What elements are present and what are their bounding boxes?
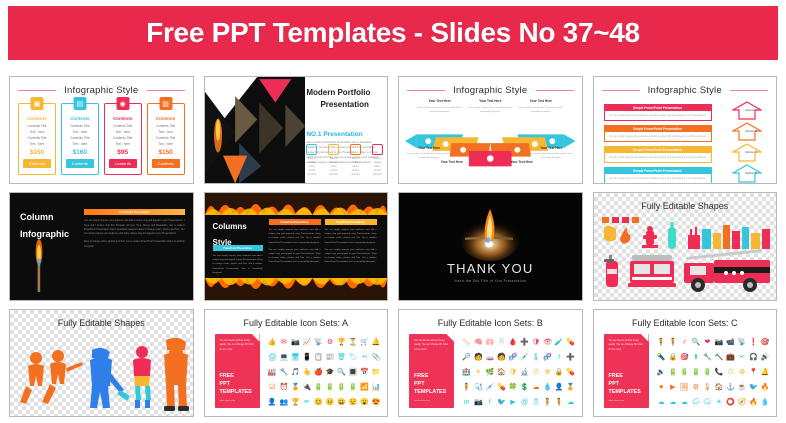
card-brand: FREE PPT TEMPLATES [220,372,252,396]
arrow-body: Get a modern PowerPoint Presentation tha… [468,107,513,115]
card-price: $150 [158,149,172,156]
eye-icon[interactable]: 👁 [542,339,554,346]
pricing-card[interactable]: ◉ Contents Contents Title Text : here Co… [104,103,142,175]
slide-6-title-line1: Columns [213,219,247,234]
portfolio-collage [205,77,305,183]
man-icon[interactable]: 🧍 [667,339,679,346]
instagram-icon[interactable]: 📷 [473,399,485,406]
syringe-icon[interactable]: 💉 [519,354,531,361]
burning-match-image [455,203,525,261]
arrow-label: Your Text Here [431,160,473,164]
bar-body: You can simply impress your audience and… [604,153,712,163]
sun-icon[interactable]: ☀ [473,369,485,376]
brand-line-3: TEMPLATES [220,388,252,396]
gender-icon[interactable]: ♂ [679,339,691,346]
thermometer-icon[interactable]: 🌡 [530,354,542,361]
cloud-icon[interactable]: ☁ [667,399,679,406]
exclamation-icon[interactable]: ❗ [748,339,760,346]
scissors-icon[interactable]: ✂ [359,354,371,361]
slide-11-title: Fully Editable Icon Sets: B [399,318,582,328]
circle-icon[interactable]: ⭕ [725,399,737,406]
plug-icon[interactable]: 🔌 [301,384,313,391]
needle-icon[interactable]: 💉 [484,384,496,391]
test-tube-icon[interactable]: 🧪 [553,339,565,346]
helix-icon[interactable]: 🧬 [542,354,554,361]
coffee-icon[interactable]: ☕ [736,384,748,391]
scissors-icon[interactable]: ✂ [736,354,748,361]
tooth-icon[interactable]: 🦷 [496,339,508,346]
sad-face-icon[interactable]: 😟 [347,399,359,406]
icon-row: 🏭 🔧 🎵 👆 🍎 🎓 🔍 🔳 📅 📁 [267,366,383,380]
card-header: Contents [113,116,133,121]
capsule-icon[interactable]: 💊 [565,369,577,376]
arrow-ribbon-diagram: Your Text Here Get a modern PowerPoint P… [403,101,578,179]
factory-icon[interactable]: 🏭 [267,369,279,376]
column-body: You can simply impress your audience and… [269,248,321,264]
pointer-icon[interactable]: 👆 [301,369,313,376]
free-ppt-templates-card: You can Resize without losing quality. Y… [215,334,260,408]
satellite-icon[interactable]: 📡 [736,339,748,346]
bar-label: Simple PowerPoint Presentation [604,167,712,174]
card-brand: FREE PPT TEMPLATES [414,372,446,396]
firefighter-hose-icon [90,348,130,408]
happy-face-icon[interactable]: 😀 [336,399,348,406]
feature-icon-item[interactable]: Easy to change colors, photos and Text [350,144,361,178]
city-skyline-icon [688,225,770,249]
droplet-icon[interactable]: 💧 [542,384,554,391]
pricing-card[interactable]: ▤ Contents Contents Title Text : here Co… [61,103,99,175]
petri-dish-icon[interactable]: 🧫 [484,354,496,361]
hourglass-icon[interactable]: ⏳ [347,339,359,346]
headphones-icon[interactable]: 🎧 [748,354,760,361]
lock-icon [350,144,361,155]
ppt-template-preview-page: Free PPT Templates - Slides No 37~48 Inf… [0,0,786,423]
firefighter-figure-graphics [14,328,190,412]
calendar-icon[interactable]: 📅 [359,369,371,376]
chart-icon[interactable]: 📈 [301,339,313,346]
bar-item-a[interactable]: Simple PowerPoint Presentation You can s… [604,104,712,121]
arrow-label: Your Text Here [529,146,574,150]
card-icon: ◉ [116,97,129,110]
slide-thumbnail-11-icon-sets-b[interactable]: Fully Editable Icon Sets: B You can Resi… [398,309,583,417]
fire-truck-side-icon [684,249,770,292]
feature-icon-item[interactable]: Easy to change colors, photos and Text [306,144,317,178]
play-icon[interactable]: ▶ [667,384,679,391]
recycle-icon[interactable]: ♻ [736,369,748,376]
tag-icon[interactable]: 🏷 [347,354,359,361]
laptop-icon[interactable]: 💻 [278,354,290,361]
lungs-icon[interactable]: 🫁 [484,339,496,346]
wrench-icon[interactable]: 🔧 [278,369,290,376]
device-icon [372,144,383,155]
bone-icon[interactable]: 🦴 [461,339,473,346]
home-icon[interactable]: 🏠 [496,369,508,376]
battery-icon[interactable]: 🔋 [313,384,325,391]
slide-thumbnail-6-columns-style[interactable]: Columns Style PowerPoint Presentation Yo… [204,192,389,300]
blood-icon[interactable]: 🩸 [507,339,519,346]
search-icon[interactable]: 🔍 [336,369,348,376]
slide-5-tag: PowerPoint Presentation [84,209,185,215]
stethoscope-icon[interactable]: 🩺 [473,384,485,391]
page-header-banner: Free PPT Templates - Slides No 37~48 [8,6,778,60]
upload-icon[interactable]: ⬆ [690,354,702,361]
video-camera-icon[interactable]: 📹 [725,339,737,346]
brain-icon[interactable]: 🧠 [473,339,485,346]
rain-cloud-icon[interactable]: 🌧 [702,399,714,406]
music-icon[interactable]: 🎵 [290,369,302,376]
slide-5-title-line1: Column [20,209,69,226]
icon-row: 🧍 🩺 💉 💊 🍀 💲 ☁ 💧 👤 🏅 [461,381,577,395]
brand-line-1: FREE [414,372,446,380]
portfolio-icon-row: Easy to change colors, photos and Text E… [306,144,383,178]
stopwatch-icon[interactable]: ⏱ [530,369,542,376]
pricing-card[interactable]: ▥ Contents Contents Title Text : here Co… [147,103,185,175]
sun-icon[interactable]: ☀ [713,399,725,406]
slide-12-title: Fully Editable Icon Sets: C [594,318,777,328]
icon-row: ⏺ ▶ 🖼 ⚙ 🌡 🏠 ⚓ ☕ 🐦 🔥 [656,381,772,395]
column-tag: PowerPoint Presentation [325,219,377,225]
icon-set-grid: 👍 ✉ 📷 📈 📡 ⚙ 🏆 ⏳ 🛒 🔔 🖨 💻 � [267,336,383,410]
caduceus-icon[interactable]: ⚕ [553,354,565,361]
shield-icon[interactable]: 🛡 [507,369,519,376]
arrow-body: Get a modern PowerPoint Presentation tha… [417,107,462,115]
twitter-icon[interactable]: 🐦 [496,399,508,406]
shield-icon[interactable]: 🛡 [530,339,542,346]
bar-label: Simple PowerPoint Presentation [604,104,712,111]
biohazard-icon[interactable]: ☢ [542,369,554,376]
target-icon[interactable]: 🎯 [759,339,771,346]
slide-thumbnail-5-column-infographic[interactable]: Column Infographic PowerPoint Presentati… [9,192,194,300]
brand-line-1: FREE [609,372,641,380]
card-top-text: You can Resize without losing quality. Y… [414,339,449,353]
card-line: Text : here [29,141,44,147]
slide-6-column-2: PowerPoint Presentation You can simply i… [269,219,321,264]
slide-thumbnail-8-editable-shapes-equipment[interactable]: Fully Editable Shapes [593,192,778,300]
monitor-icon[interactable]: 🖥 [290,354,302,361]
slide-thumbnail-7-thank-you[interactable]: THANK YOU Insert the Sub Title of Your P… [398,192,583,300]
youtube-icon[interactable]: ▶ [507,399,519,406]
trash-icon[interactable]: 🗑 [336,354,348,361]
brand-line-1: FREE [220,372,252,380]
icon-row: 👍 ✉ 📷 📈 📡 ⚙ 🏆 ⏳ 🛒 🔔 [267,336,383,350]
tablet-icon[interactable]: 💊 [496,384,508,391]
medal-icon[interactable]: 🏅 [290,384,302,391]
clock-icon[interactable]: ⏰ [278,384,290,391]
dna-icon[interactable]: 🧬 [507,354,519,361]
slide-8-title: Fully Editable Shapes [594,201,777,211]
cloud-icon[interactable]: ☁ [565,399,577,406]
feature-caption: Easy to change colors, photos and Text [372,157,383,178]
pricing-card[interactable]: ▣ Contents Contents Title Text : here Co… [18,103,56,175]
slide-9-title: Fully Editable Shapes [10,318,193,328]
doctor-icon[interactable]: 🧑 [496,354,508,361]
card-price: $95 [117,149,128,156]
cloud-icon[interactable]: ☁ [656,399,668,406]
woman-icon[interactable]: 🧍 [656,339,668,346]
slide-thumbnail-2-modern-portfolio[interactable]: Modern Portfolio Presentation NO.1 Prese… [204,76,389,184]
slide-thumbnail-12-icon-sets-c[interactable]: Fully Editable Icon Sets: C You can Resi… [593,309,778,417]
bar-item-d[interactable]: Simple PowerPoint Presentation You can s… [604,167,712,183]
hammer-icon[interactable]: 🔨 [713,354,725,361]
checkbox-icon[interactable]: ☑ [267,384,279,391]
cart-icon[interactable]: 🛒 [359,339,371,346]
pencil-icon[interactable]: ✏ [301,399,313,406]
feature-caption: Easy to change colors, photos and Text [306,157,317,178]
brand-line-2: PPT [220,380,252,388]
bird-icon[interactable]: 🐦 [748,384,760,391]
bar-item-c[interactable]: Simple PowerPoint Presentation You can s… [604,146,712,163]
battery-icon[interactable]: 🔋 [347,384,359,391]
card-price: $150 [30,149,44,156]
card-header: Contents [27,116,47,121]
grid-icon[interactable]: 🔳 [347,369,359,376]
slide-3-title: Infographic Style [399,85,582,96]
icon-row: ☁ ☁ ☁ 🌧 🌧 ☀ ⭕ 🧭 🔥 💧 [656,396,772,410]
firefighter-standing-icon [164,338,189,411]
person-icon[interactable]: 👤 [267,399,279,406]
icon-row: 🏥 ☀ 🌿 🏠 🛡 🔬 ⏱ ☢ 🔒 💊 [461,366,577,380]
search-icon[interactable]: 🔍 [690,339,702,346]
brand-line-2: PPT [414,380,446,388]
column-tag: PowerPoint Presentation [213,245,263,251]
card-price: $160 [73,149,87,156]
column-body: You can simply impress your audience and… [325,228,377,244]
rain-cloud-icon[interactable]: 🌧 [690,399,702,406]
love-face-icon[interactable]: 😍 [370,399,382,406]
home-icon[interactable]: 🏠 [713,384,725,391]
mail-icon[interactable]: ✉ [278,339,290,346]
surprised-face-icon[interactable]: 😮 [359,399,371,406]
arrow-label: Your Text Here [518,99,563,103]
bar-label: Simple PowerPoint Presentation [604,125,712,132]
smiley-icon[interactable]: 😊 [313,399,325,406]
record-icon[interactable]: ⏺ [656,384,668,391]
card-header: Contents [156,116,176,121]
card-button[interactable]: Contents [109,159,137,168]
bar-item-b[interactable]: Simple PowerPoint Presentation You can s… [604,125,712,142]
lock-icon[interactable]: 🔒 [553,369,565,376]
slide-thumbnail-10-icon-sets-a[interactable]: Fully Editable Icon Sets: A You can Resi… [204,309,389,417]
person-icon[interactable]: 🧍 [461,384,473,391]
flashlight-icon[interactable]: 🔦 [656,354,668,361]
camera-icon[interactable]: 📷 [290,339,302,346]
fire-border-top [205,193,388,215]
fire-hydrant-icon [642,226,658,248]
stopwatch-icon[interactable]: ⏱ [725,369,737,376]
icon-row: 🔈 🔋 🔋 🔋 🔋 📞 ⏱ ♻ 📍 🔔 [656,366,772,380]
firefighting-equipment-graphics [598,215,774,293]
card-line: Text : here [72,141,87,147]
card-url: www.sitesn.com [414,400,430,402]
slide-thumbnail-4-infographic-arrow-bars[interactable]: Infographic Style Option A Simple PowerP… [593,76,778,184]
email-icon[interactable]: @ [519,399,531,406]
bar-body: You can simply impress your audience and… [604,111,712,121]
icon-row: in 📷 f 🐦 ▶ @ 🎗 🧍 🧍 ☁ [461,396,577,410]
card-button[interactable]: Contents [23,159,51,168]
column-body: You can simply impress your audience and… [269,228,321,244]
battery-icon[interactable]: 🔋 [336,384,348,391]
column-body: You can simply impress your audience and… [213,254,263,274]
image-icon[interactable]: 🖼 [679,384,691,391]
card-top-text: You can Resize without losing quality. Y… [609,339,644,353]
clip-icon[interactable]: 📎 [370,354,382,361]
brand-line-3: TEMPLATES [414,388,446,396]
award-icon[interactable]: 🏅 [565,384,577,391]
camera-icon[interactable]: 📷 [713,339,725,346]
people-icon[interactable]: 👥 [278,399,290,406]
user-icon[interactable]: 👤 [553,384,565,391]
icon-row: ☑ ⏰ 🏅 🔌 🔋 🔋 🔋 🔋 📶 📊 [267,381,383,395]
lock-icon[interactable]: 🔒 [667,354,679,361]
fire-extinguisher-icon [604,255,618,287]
battery-icon[interactable]: 🔋 [702,369,714,376]
gas-cylinder-icon [668,222,676,249]
speaker-icon[interactable]: 🔊 [759,354,771,361]
signal-icon[interactable]: 📶 [359,384,371,391]
gear-icon[interactable]: ⚙ [690,384,702,391]
option-label-b: Option B [745,129,757,133]
icon-row: 🦴 🧠 🫁 🦷 🩸 ➕ 🛡 👁 🧪 💊 [461,336,577,350]
bell-icon[interactable]: 🔔 [370,339,382,346]
slide-4-title: Infographic Style [594,85,777,96]
dollar-icon[interactable]: 💲 [519,384,531,391]
pill-icon[interactable]: 💊 [565,339,577,346]
column-tag: PowerPoint Presentation [269,219,321,225]
patient-icon[interactable]: 🧑 [473,354,485,361]
fire-border-bottom [205,278,388,300]
location-pin-icon[interactable]: 📍 [748,369,760,376]
slide-thumbnail-grid: Infographic Style ▣ Contents Contents Ti… [0,70,786,423]
free-ppt-templates-card: You can Resize without losing quality. Y… [409,334,454,408]
cloud-icon[interactable]: ☁ [530,384,542,391]
card-brand: FREE PPT TEMPLATES [609,372,641,396]
clipboard-icon[interactable]: 📋 [313,354,325,361]
slide-7-title: THANK YOU [399,261,582,276]
column-body: You can simply impress your audience and… [325,248,377,264]
card-icon: ▥ [159,97,172,110]
graduation-icon[interactable]: 🎓 [324,369,336,376]
card-icon: ▤ [73,97,86,110]
thumbs-up-icon[interactable]: 👍 [267,339,279,346]
feature-caption: Easy to change colors, photos and Text [328,157,339,178]
anchor-icon[interactable]: ⚓ [725,384,737,391]
slide-6-column-1: PowerPoint Presentation You can simply i… [213,245,263,274]
phone-icon[interactable]: 📞 [713,369,725,376]
target-icon[interactable]: 🎯 [679,354,691,361]
gear-icon[interactable]: ⚙ [324,339,336,346]
heart-icon[interactable]: ❤ [702,339,714,346]
icon-row: 🔎 🧑 🧫 🧑 🧬 💉 🌡 🧬 ⚕ ➕ [461,351,577,365]
slide-1-title: Infographic Style [10,85,193,96]
icon-row: 👤 👥 🏆 ✏ 😊 😐 😀 😟 😮 😍 [267,396,383,410]
volume-icon[interactable]: 🔈 [656,369,668,376]
ribbon-icon[interactable]: 🎗 [530,399,542,406]
arrow-body: Get a modern PowerPoint Presentation tha… [518,107,563,115]
chart-icon [306,144,317,155]
arrow-label: Your Text Here [406,146,451,150]
card-icon: ▣ [30,97,43,110]
leaf-icon[interactable]: 🌿 [484,369,496,376]
clover-icon[interactable]: 🍀 [507,384,519,391]
wrench-icon[interactable]: 🔧 [702,354,714,361]
slide-5-body2: Easy to change colors, photos and Text. … [84,240,185,248]
microscope-icon[interactable]: 🔬 [519,369,531,376]
plus-circle-icon[interactable]: ➕ [565,354,577,361]
arrow-label: Your Text Here [468,99,513,103]
brand-line-3: TEMPLATES [609,388,641,396]
battery-icon[interactable]: 🔋 [324,384,336,391]
icon-row: 🔦 🔒 🎯 ⬆ 🔧 🔨 💼 ✂ 🎧 🔊 [656,351,772,365]
thermometer-icon[interactable]: 🌡 [702,384,714,391]
card-button[interactable]: Contents [66,159,94,168]
bar-body: You can simply impress your audience and… [604,174,712,183]
card-line: Text : here [115,141,130,147]
slide-thumbnail-3-infographic-arrows[interactable]: Infographic Style [398,76,583,184]
battery-icon[interactable]: 🔋 [667,369,679,376]
matchstick-flame-image [32,230,46,292]
slide-7-subtitle: Insert the Sub Title of Your Presentatio… [399,279,582,283]
fire-icon[interactable]: 🔥 [759,384,771,391]
card-line: Text : here [158,141,173,147]
trophy-icon[interactable]: 🏆 [290,399,302,406]
fire-icon[interactable]: 🔥 [748,399,760,406]
slide-thumbnail-9-editable-shapes-firefighters[interactable]: Fully Editable Shapes [9,309,194,417]
folder-icon[interactable]: 📁 [370,369,382,376]
fire-truck-front-icon [628,255,676,287]
bar-label: Simple PowerPoint Presentation [604,146,712,153]
battery-icon[interactable]: 🔋 [690,369,702,376]
arrow-label: Your Text Here [501,160,543,164]
arrow-label: Your Text Here [417,99,462,103]
slide-thumbnail-1-infographic-pricing[interactable]: Infographic Style ▣ Contents Contents Ti… [9,76,194,184]
neutral-face-icon[interactable]: 😐 [324,399,336,406]
bar-body: You can simply impress your audience and… [604,132,712,142]
cloud-icon[interactable]: ☁ [679,399,691,406]
bars-icon[interactable]: 📊 [370,384,382,391]
droplet-icon[interactable]: 💧 [759,399,771,406]
option-label-c: Option C [745,150,757,154]
card-url: www.sitesn.com [220,400,236,402]
compass-icon[interactable]: 🧭 [736,399,748,406]
brand-line-2: PPT [609,380,641,388]
slide-6-column-3: PowerPoint Presentation You can simply i… [325,219,377,264]
option-label-d: Option D [745,171,757,175]
feature-icon-item[interactable]: Easy to change colors, photos and Text [372,144,383,178]
news-icon[interactable]: 📰 [324,354,336,361]
printer-icon[interactable]: 🖨 [267,354,279,361]
trophy-icon[interactable]: 🏆 [336,339,348,346]
person-icon[interactable]: 🧍 [553,399,565,406]
battery-icon[interactable]: 🔋 [679,369,691,376]
rescue-pair-icon [20,350,83,404]
bell-icon[interactable]: 🔔 [759,369,771,376]
linkedin-icon[interactable]: in [461,399,473,406]
feature-icon-item[interactable]: Easy to change colors, photos and Text [328,144,339,178]
antenna-icon[interactable]: 📡 [313,339,325,346]
hospital-icon[interactable]: 🏥 [461,369,473,376]
card-button[interactable]: Contents [152,159,180,168]
phone-icon[interactable]: 📱 [301,354,313,361]
icon-row: 🧍 🧍 ♂ 🔍 ❤ 📷 📹 📡 ❗ 🎯 [656,336,772,350]
medical-cross-icon[interactable]: ➕ [519,339,531,346]
pricing-card-row: ▣ Contents Contents Title Text : here Co… [18,103,185,175]
person-icon[interactable]: 🧍 [542,399,554,406]
briefcase-icon[interactable]: 💼 [725,354,737,361]
magnifier-icon[interactable]: 🔎 [461,354,473,361]
facebook-icon[interactable]: f [484,399,496,406]
apple-icon[interactable]: 🍎 [313,369,325,376]
page-title: Free PPT Templates - Slides No 37~48 [146,17,640,49]
